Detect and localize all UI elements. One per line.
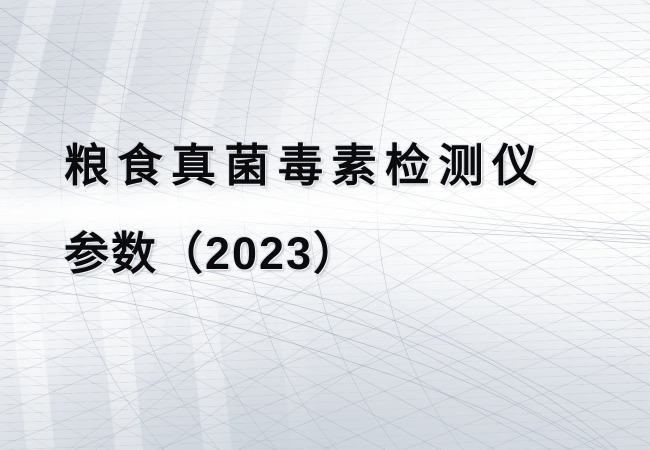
title-line-parameters-year: 参数（2023） bbox=[64, 228, 624, 280]
title-banner: 粮食真菌毒素检测仪 参数（2023） bbox=[0, 0, 650, 450]
title-line-product-name: 粮食真菌毒素检测仪 bbox=[64, 140, 624, 192]
page-title: 粮食真菌毒素检测仪 参数（2023） bbox=[64, 140, 624, 280]
